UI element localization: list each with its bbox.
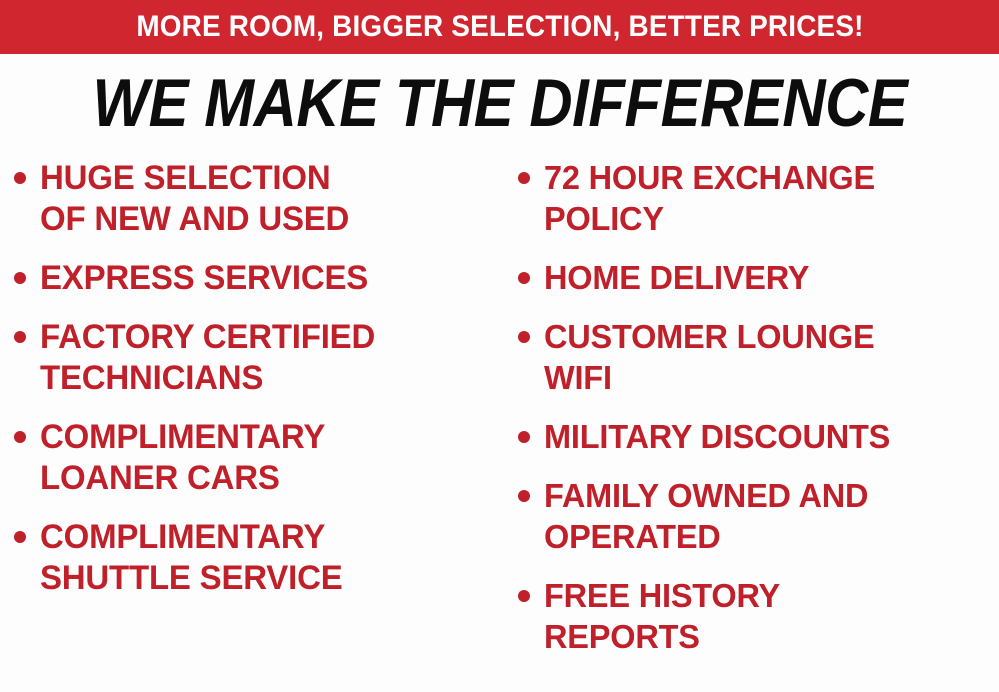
- bullet-dot-icon: [518, 172, 530, 184]
- list-item: MILITARY DISCOUNTS: [518, 417, 999, 458]
- feature-label: MILITARY DISCOUNTS: [544, 417, 890, 458]
- list-item: FAMILY OWNED AND OPERATED: [518, 476, 999, 558]
- list-item: EXPRESS SERVICES: [14, 258, 506, 299]
- list-item: HUGE SELECTION OF NEW AND USED: [14, 158, 506, 240]
- promo-banner: MORE ROOM, BIGGER SELECTION, BETTER PRIC…: [0, 0, 999, 54]
- feature-column-left: HUGE SELECTION OF NEW AND USED EXPRESS S…: [0, 158, 506, 692]
- list-item: FACTORY CERTIFIED TECHNICIANS: [14, 317, 506, 399]
- feature-label: FREE HISTORY REPORTS: [544, 576, 780, 658]
- feature-label: FACTORY CERTIFIED TECHNICIANS: [40, 317, 375, 399]
- feature-label: COMPLIMENTARY SHUTTLE SERVICE: [40, 517, 343, 599]
- list-item: HOME DELIVERY: [518, 258, 999, 299]
- promo-banner-text: MORE ROOM, BIGGER SELECTION, BETTER PRIC…: [136, 12, 863, 42]
- feature-list-left: HUGE SELECTION OF NEW AND USED EXPRESS S…: [14, 158, 506, 599]
- headline: WE MAKE THE DIFFERENCE: [0, 62, 999, 144]
- bullet-dot-icon: [518, 431, 530, 443]
- headline-text: WE MAKE THE DIFFERENCE: [92, 67, 907, 139]
- feature-label: HOME DELIVERY: [544, 258, 809, 299]
- bullet-dot-icon: [518, 331, 530, 343]
- feature-label: HUGE SELECTION OF NEW AND USED: [40, 158, 349, 240]
- list-item: 72 HOUR EXCHANGE POLICY: [518, 158, 999, 240]
- advertisement-banner: MORE ROOM, BIGGER SELECTION, BETTER PRIC…: [0, 0, 999, 692]
- bullet-dot-icon: [518, 272, 530, 284]
- bullet-dot-icon: [14, 331, 26, 343]
- feature-columns: HUGE SELECTION OF NEW AND USED EXPRESS S…: [0, 158, 999, 692]
- feature-label: CUSTOMER LOUNGE WIFI: [544, 317, 874, 399]
- feature-column-right: 72 HOUR EXCHANGE POLICY HOME DELIVERY CU…: [506, 158, 999, 692]
- bullet-dot-icon: [518, 590, 530, 602]
- feature-label: EXPRESS SERVICES: [40, 258, 368, 299]
- feature-list-right: 72 HOUR EXCHANGE POLICY HOME DELIVERY CU…: [518, 158, 999, 658]
- list-item: FREE HISTORY REPORTS: [518, 576, 999, 658]
- feature-label: COMPLIMENTARY LOANER CARS: [40, 417, 325, 499]
- list-item: CUSTOMER LOUNGE WIFI: [518, 317, 999, 399]
- list-item: COMPLIMENTARY LOANER CARS: [14, 417, 506, 499]
- bullet-dot-icon: [14, 272, 26, 284]
- bullet-dot-icon: [14, 431, 26, 443]
- bullet-dot-icon: [14, 172, 26, 184]
- feature-label: FAMILY OWNED AND OPERATED: [544, 476, 868, 558]
- bullet-dot-icon: [14, 531, 26, 543]
- feature-label: 72 HOUR EXCHANGE POLICY: [544, 158, 875, 240]
- bullet-dot-icon: [518, 490, 530, 502]
- list-item: COMPLIMENTARY SHUTTLE SERVICE: [14, 517, 506, 599]
